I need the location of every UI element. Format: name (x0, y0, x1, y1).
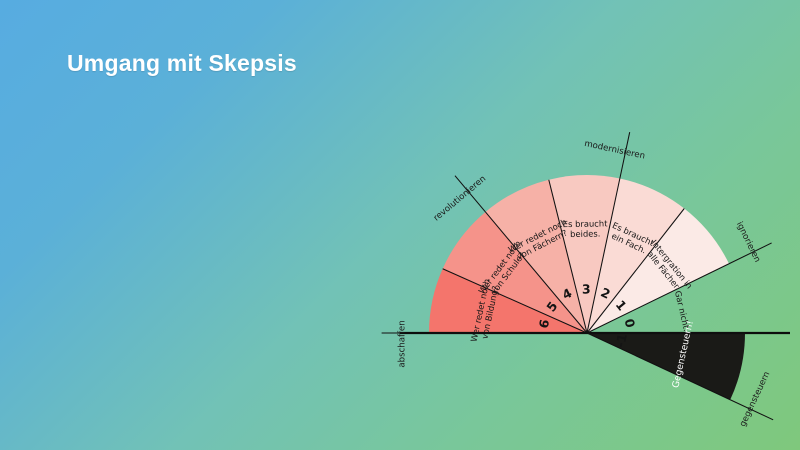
segment-number: 3 (582, 281, 591, 296)
outer-label: modernisieren (583, 139, 646, 162)
segment-neg1[interactable] (587, 333, 745, 400)
segment-label: Gar nicht. (673, 290, 692, 332)
slide-canvas: Umgang mit Skepsis Gegensteuern!Gar nich… (0, 0, 800, 450)
outer-label: ignorieren (734, 220, 762, 264)
fan-gauge-chart: Gegensteuern!Gar nicht.Intergration inal… (0, 0, 800, 450)
outer-label: gegensteuern (738, 370, 772, 428)
outer-label: abschaffen (398, 320, 408, 367)
segment-number: 0 (622, 317, 639, 329)
